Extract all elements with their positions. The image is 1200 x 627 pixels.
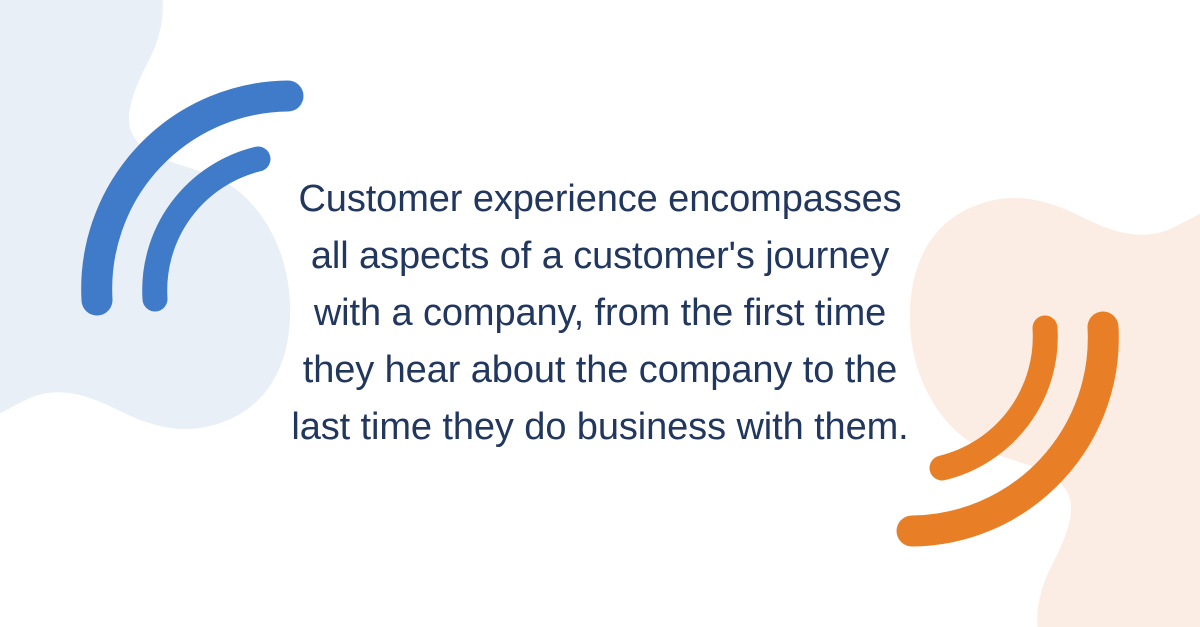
- blue-blob: [0, 0, 290, 430]
- quote-card: Customer experience encompasses all aspe…: [0, 0, 1200, 627]
- decorative-background-layer: [0, 0, 1200, 627]
- peach-blob: [910, 197, 1200, 627]
